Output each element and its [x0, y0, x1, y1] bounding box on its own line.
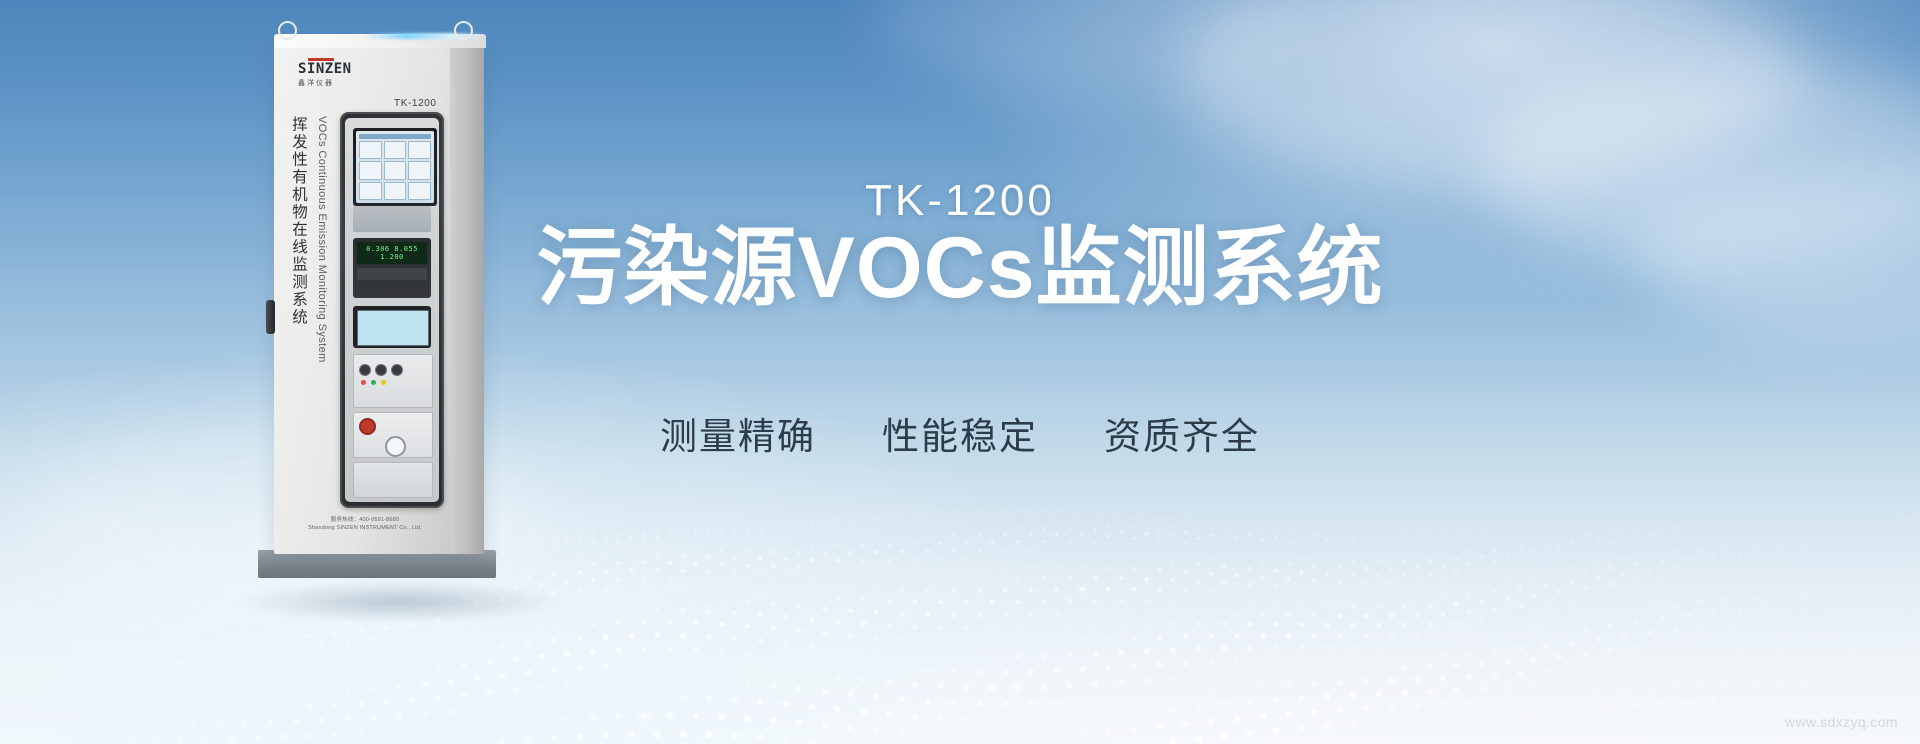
feature-item: 资质齐全 [1104, 406, 1260, 460]
banner-feature-list: 测量精确 性能稳定 资质齐全 [560, 406, 1360, 460]
site-watermark: www.sdxzyq.com [1785, 714, 1898, 730]
product-banner: SINZEN 鑫洋仪器 TK-1200 挥发性有机物在线监测系统 VOCs Co… [0, 0, 1920, 744]
feature-item: 测量精确 [660, 406, 816, 460]
banner-copy: TK-1200 污染源VOCs监测系统 测量精确 性能稳定 资质齐全 [0, 0, 1920, 744]
banner-headline: 污染源VOCs监测系统 [480, 222, 1440, 315]
feature-item: 性能稳定 [882, 406, 1038, 460]
banner-model-label: TK-1200 [560, 176, 1360, 226]
